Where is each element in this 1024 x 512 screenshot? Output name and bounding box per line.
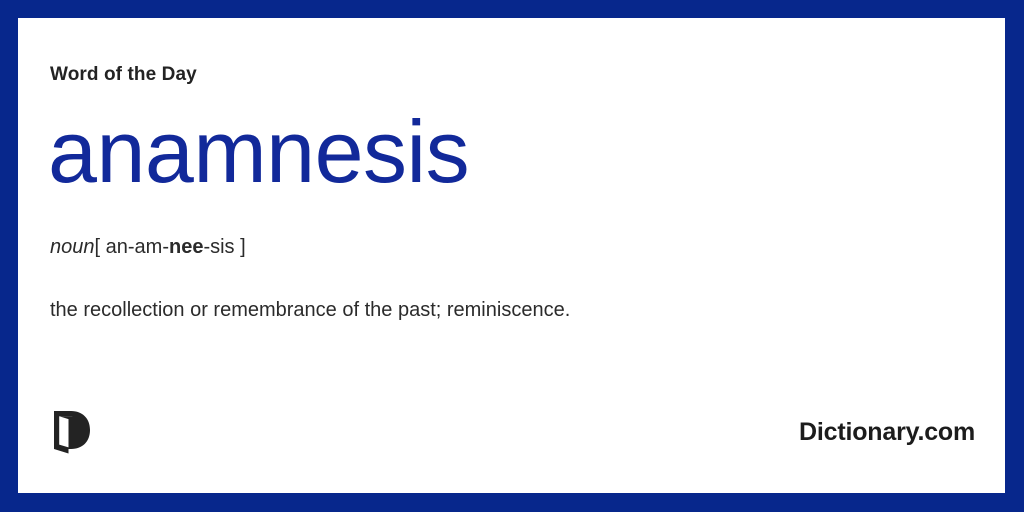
- pronunciation-suffix: -sis: [203, 236, 234, 258]
- pronunciation-bracket-close: ]: [235, 236, 246, 258]
- brand-wordmark: Dictionary.com: [799, 418, 975, 447]
- card-footer: Dictionary.com: [50, 406, 975, 458]
- part-of-speech: noun: [50, 236, 95, 258]
- word-of-the-day-card: Word of the Day anamnesis noun[ an-am-ne…: [0, 0, 1024, 512]
- pronunciation-stressed-syllable: nee: [169, 236, 203, 258]
- pronunciation-prefix: an-am-: [106, 236, 169, 258]
- headword: anamnesis: [48, 104, 469, 199]
- pronunciation-line: noun[ an-am-nee-sis ]: [50, 234, 246, 261]
- word-of-the-day-label: Word of the Day: [50, 64, 197, 87]
- card-inner-surface: Word of the Day anamnesis noun[ an-am-ne…: [18, 18, 1005, 493]
- pronunciation-bracket-open: [: [95, 236, 106, 258]
- dictionary-d-logo-icon: [50, 407, 92, 457]
- definition-text: the recollection or remembrance of the p…: [50, 296, 973, 325]
